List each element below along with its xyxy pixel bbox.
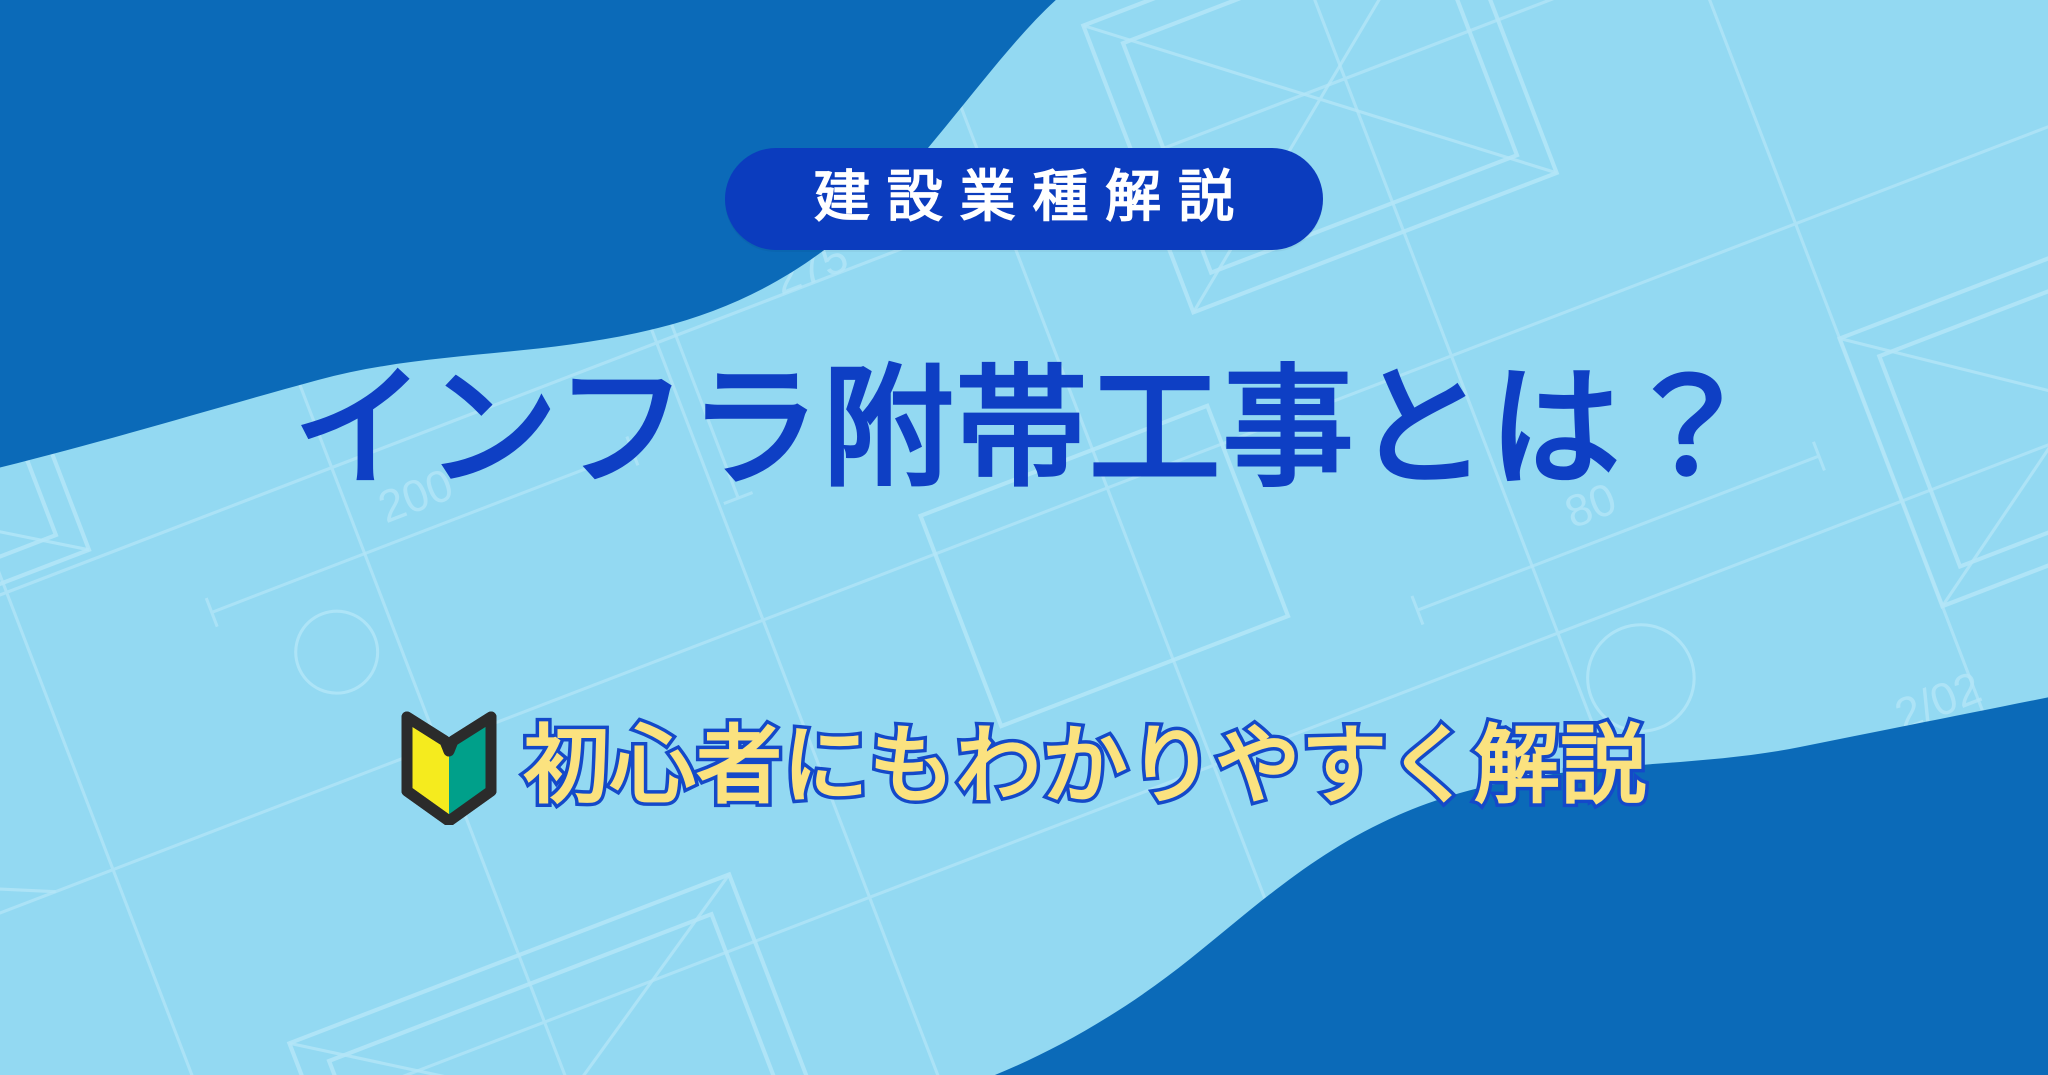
subtitle-text: 初心者にもわかりやすく解説	[523, 723, 1647, 809]
category-badge: 建設業種解説	[725, 148, 1323, 250]
subtitle-row: 初心者にもわかりやすく解説	[401, 707, 1647, 825]
page-title: インフラ附帯工事とは？	[293, 358, 1756, 501]
shoshinsha-beginner-mark-icon	[401, 707, 497, 825]
banner-content: 建設業種解説 インフラ附帯工事とは？ 初心者にもわかりやすく解説	[0, 0, 2048, 1075]
banner-canvas: 200 80 140 2/05 275 260 2/02 建設業種解説 インフラ…	[0, 0, 2048, 1075]
